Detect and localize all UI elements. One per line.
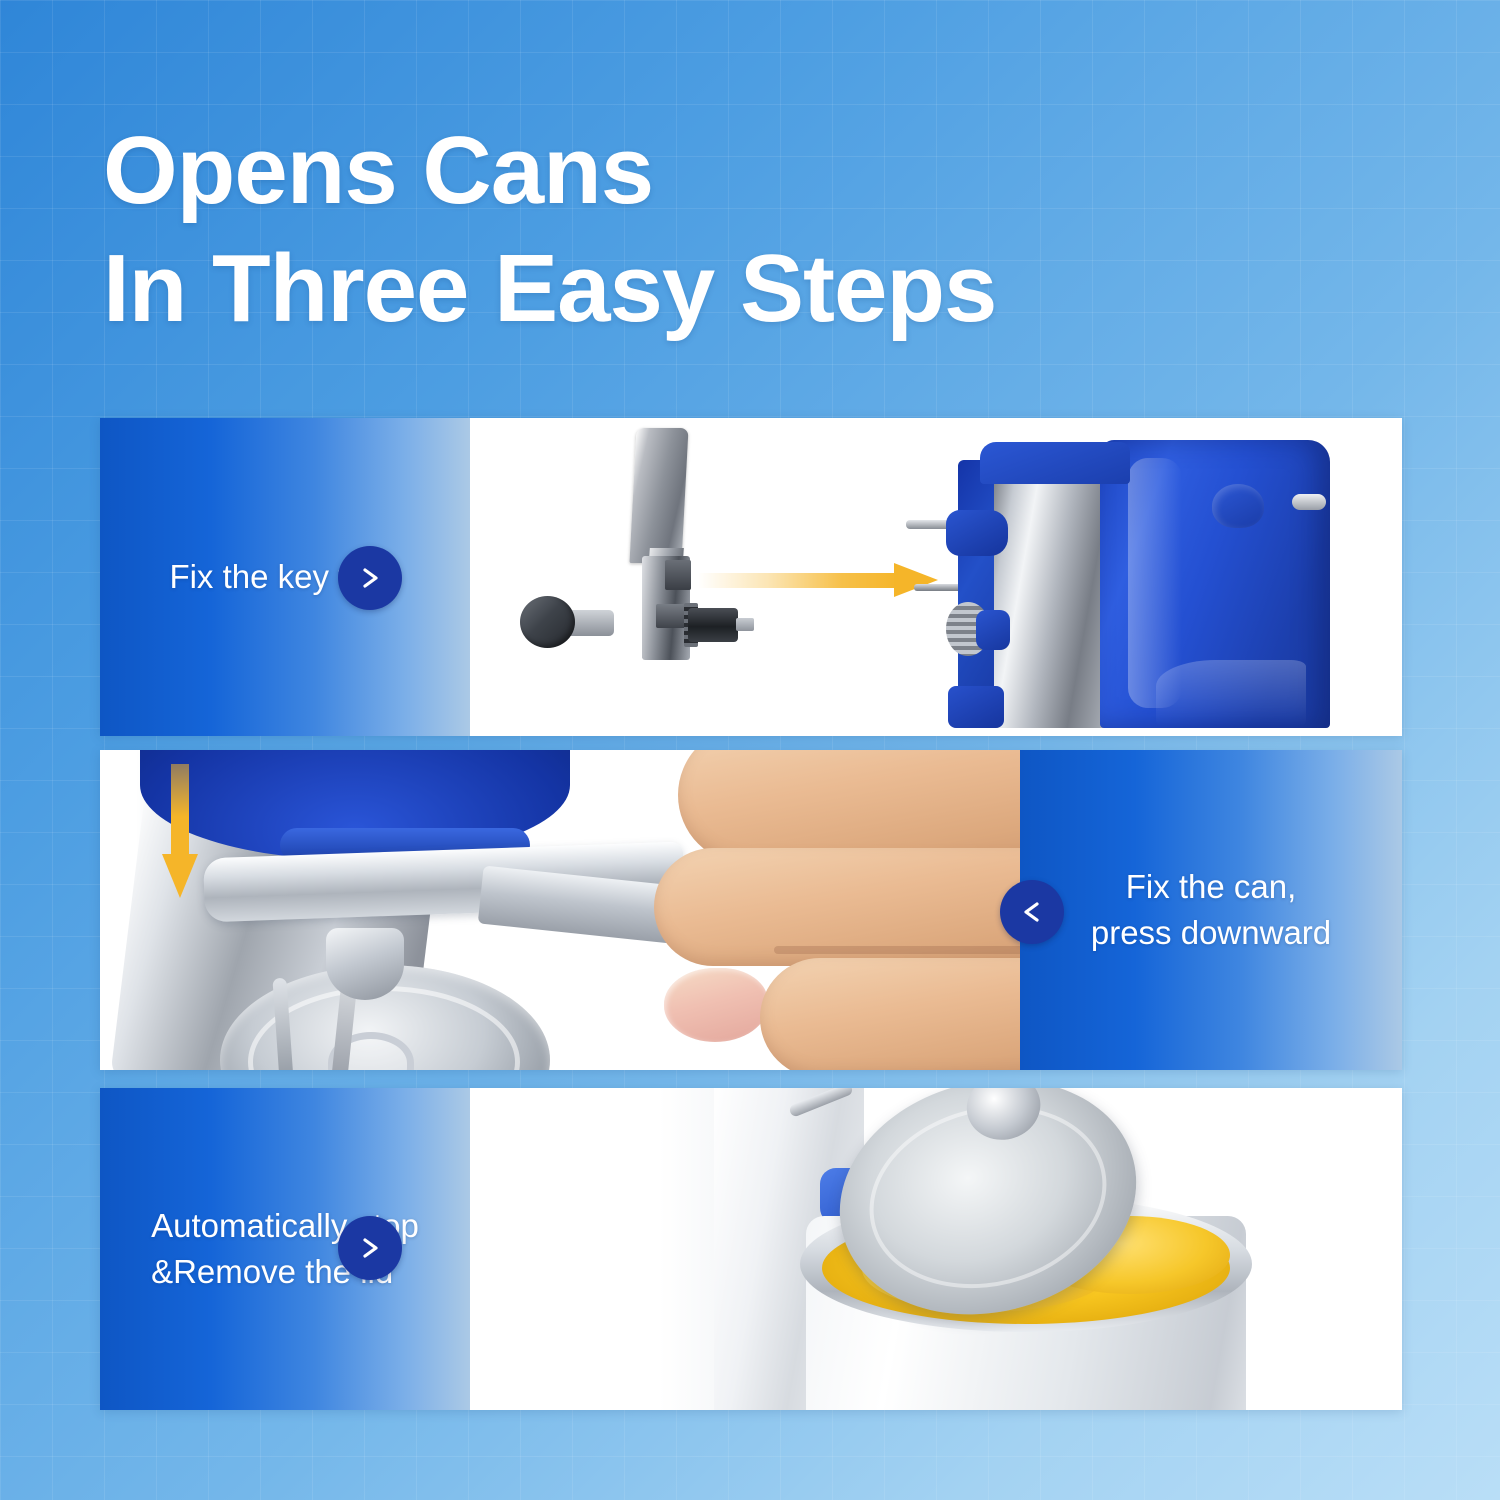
key-tab-cutter-gear <box>688 608 738 642</box>
step-2-photo <box>100 750 1020 1070</box>
step-2-label: Fix the can, press downward <box>1091 864 1331 956</box>
opener-cutting-gear <box>326 928 404 1000</box>
step-panel-1: Fix the key tabs <box>100 418 1402 736</box>
arrow-head <box>162 854 198 898</box>
finger-lower <box>760 958 1020 1070</box>
opener-top-cap <box>980 442 1130 484</box>
key-tab-black-knob <box>520 596 575 648</box>
step-panel-3: Automatically stop &Remove the lid <box>100 1088 1402 1410</box>
opener-base-notch <box>1156 660 1306 726</box>
finger-index <box>654 848 1020 966</box>
opener-metal-pin <box>1292 494 1326 510</box>
step-3-label-block: Automatically stop &Remove the lid <box>100 1088 470 1410</box>
chevron-left-icon[interactable] <box>1000 880 1064 944</box>
step-2-illustration <box>100 750 1020 1070</box>
arrow-head <box>894 563 938 597</box>
chevron-right-icon[interactable] <box>338 546 402 610</box>
opener-steel-panel <box>994 450 1110 728</box>
opener-foot <box>948 686 1004 728</box>
arrow-shaft <box>171 764 189 860</box>
page-title: Opens Cans In Three Easy Steps <box>103 112 1393 348</box>
step-1-photo <box>470 418 1402 736</box>
step-panel-2: Fix the can, press downward <box>100 750 1402 1070</box>
opener-blue-knob <box>946 510 1008 556</box>
step-3-photo <box>470 1088 1402 1410</box>
hand-pressing-lever <box>660 750 1020 1070</box>
fingernail <box>664 968 768 1042</box>
finger-upper <box>678 750 1020 864</box>
key-tab-lever <box>629 428 688 563</box>
arrow-down-icon <box>162 764 198 896</box>
step-3-illustration <box>470 1088 1402 1410</box>
step-1-illustration <box>470 418 1402 736</box>
step-1-label-block: Fix the key tabs <box>100 418 470 736</box>
opener-dial-hub <box>976 610 1010 650</box>
knuckle-crease <box>774 946 1020 954</box>
step-3-white-backdrop <box>470 1088 740 1410</box>
step-2-label-block: Fix the can, press downward <box>1020 750 1402 1070</box>
can-opener-device <box>940 434 1340 734</box>
arrow-shaft <box>698 573 898 588</box>
key-tab-notch-upper <box>665 560 691 590</box>
arrow-right-icon <box>698 564 948 596</box>
opener-handle-nub <box>1212 484 1264 528</box>
chevron-right-icon[interactable] <box>338 1216 402 1280</box>
